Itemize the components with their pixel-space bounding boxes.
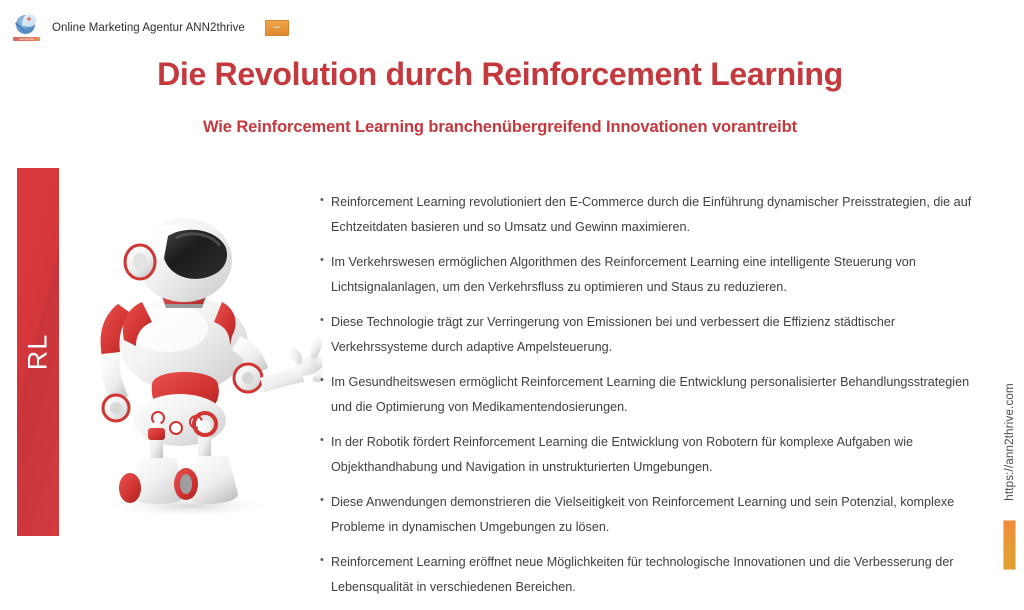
brand-name-label: Online Marketing Agentur ANN2thrive xyxy=(52,22,245,34)
robot-left-boot-wheel xyxy=(119,473,141,503)
page-header: ann2thrive Online Marketing Agentur ANN2… xyxy=(12,12,289,44)
list-item: • In der Robotik fördert Reinforcement L… xyxy=(320,430,992,480)
logo-caption: ann2thrive xyxy=(13,37,40,41)
list-item-text: Im Gesundheitswesen ermöglicht Reinforce… xyxy=(331,370,992,420)
bullet-marker-icon: • xyxy=(320,430,331,451)
list-item: • Im Verkehrswesen ermöglichen Algorithm… xyxy=(320,250,992,300)
robot-hip-plate xyxy=(134,394,226,446)
bullet-marker-icon: • xyxy=(320,190,331,211)
list-item: • Reinforcement Learning revolutioniert … xyxy=(320,190,992,240)
robot-graphic xyxy=(72,196,322,516)
list-item-text: Diese Anwendungen demonstrieren die Viel… xyxy=(331,490,992,540)
robot-right-elbow-core xyxy=(242,372,254,384)
side-accent-bar: RL xyxy=(17,168,59,536)
robot-illustration xyxy=(72,196,322,516)
header-badge[interactable]: ••• xyxy=(265,20,289,36)
robot-left-knee xyxy=(148,428,165,440)
bullet-marker-icon: • xyxy=(320,250,331,271)
list-item-text: Diese Technologie trägt zur Verringerung… xyxy=(331,310,992,360)
bullet-marker-icon: • xyxy=(320,370,331,391)
list-item-text: Reinforcement Learning eröffnet neue Mög… xyxy=(331,550,992,600)
page-subtitle: Wie Reinforcement Learning branchenüberg… xyxy=(0,118,1000,137)
robot-right-boot-hub xyxy=(180,474,192,494)
list-item: • Diese Technologie trägt zur Verringeru… xyxy=(320,310,992,360)
side-bar-label: RL xyxy=(23,334,54,371)
robot-ear-core xyxy=(133,253,147,271)
robot-left-hand-core xyxy=(110,402,122,414)
list-item: • Diese Anwendungen demonstrieren die Vi… xyxy=(320,490,992,540)
list-item-text: Reinforcement Learning revolutioniert de… xyxy=(331,190,992,240)
list-item-text: In der Robotik fördert Reinforcement Lea… xyxy=(331,430,992,480)
bullet-marker-icon: • xyxy=(320,490,331,511)
robot-hip-bolt-2 xyxy=(170,422,182,434)
ann2thrive-logo-icon: ann2thrive xyxy=(12,13,42,43)
page-title: Die Revolution durch Reinforcement Learn… xyxy=(0,56,1000,93)
list-item-text: Im Verkehrswesen ermöglichen Algorithmen… xyxy=(331,250,992,300)
site-url-vertical[interactable]: https://ann2thrive.com xyxy=(1000,372,1020,512)
url-accent-bar xyxy=(1003,520,1016,570)
robot-right-leg xyxy=(198,420,211,462)
bullet-list: • Reinforcement Learning revolutioniert … xyxy=(320,190,992,610)
list-item: • Im Gesundheitswesen ermöglicht Reinfor… xyxy=(320,370,992,420)
bullet-marker-icon: • xyxy=(320,310,331,331)
list-item: • Reinforcement Learning eröffnet neue M… xyxy=(320,550,992,600)
bullet-marker-icon: • xyxy=(320,550,331,571)
site-url-label: https://ann2thrive.com xyxy=(1004,383,1016,501)
